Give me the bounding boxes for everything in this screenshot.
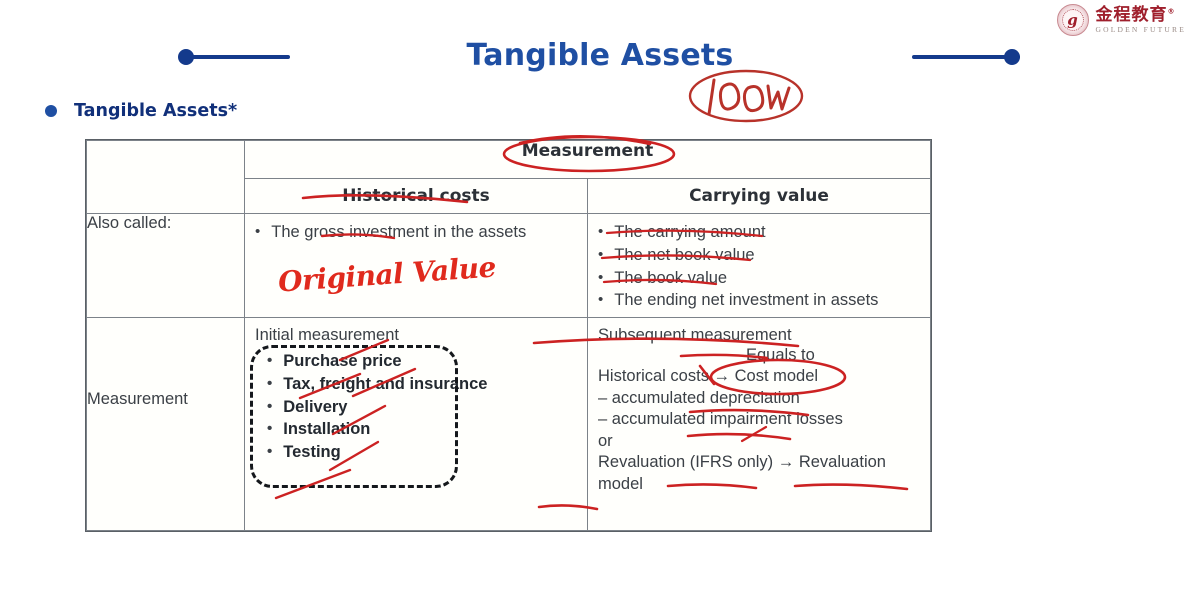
registered-mark-icon: ® [1168, 7, 1176, 15]
list-item: • Tax, freight and insurance [267, 374, 583, 396]
table-corner-cell [87, 141, 245, 214]
table-column-header-carrying-value: Carrying value [588, 179, 931, 214]
bullet-char-icon: • [267, 397, 272, 417]
list-item: • The carrying amount [598, 222, 926, 244]
subsection-title-initial-measurement: Initial measurement [245, 318, 587, 345]
equals-to-label: Equals to [598, 345, 924, 366]
logo-english-name: GOLDEN FUTURE [1096, 26, 1186, 34]
tangible-assets-table: Measurement Historical costs Carrying va… [85, 139, 932, 532]
table-group-header-measurement: Measurement [245, 141, 931, 179]
row-label-also-called: Also called: [87, 214, 245, 318]
list-item-label: Testing [283, 442, 583, 464]
logo-wordmark: 金程教育® GOLDEN FUTURE [1096, 7, 1186, 34]
list-item-label: The book value [614, 268, 926, 290]
bullet-char-icon: • [598, 222, 603, 242]
list-item: • Installation [267, 419, 583, 441]
bullet-list-historical-also-called: • The gross investment in the assets [245, 214, 587, 244]
logo-chinese-name: 金程教育® [1096, 7, 1186, 24]
list-item-label: The carrying amount [614, 222, 926, 244]
cell-measurement-historical: Initial measurement • Purchase price • T… [245, 318, 588, 531]
cell-measurement-carrying: Subsequent measurement Equals to Histori… [588, 318, 931, 531]
table-header-row-group: Measurement [87, 141, 931, 179]
bullet-char-icon: • [267, 351, 272, 371]
annotation-handwriting-100w [709, 80, 789, 114]
title-decoration-line-left [182, 55, 290, 59]
formula-line-cost-model: Historical costs → Cost model [598, 366, 924, 387]
brand-logo: g 金程教育® GOLDEN FUTURE [1057, 4, 1186, 36]
bullet-char-icon: • [267, 442, 272, 462]
bullet-char-icon: • [267, 374, 272, 394]
table-row: Also called: • The gross investment in t… [87, 214, 931, 318]
formula-line-depreciation: – accumulated depreciation [598, 388, 924, 409]
annotation-circle-title-note [690, 71, 802, 121]
bullet-list-initial-measurement: • Purchase price • Tax, freight and insu… [245, 345, 587, 464]
list-item: • The book value [598, 268, 926, 290]
title-decoration-dot-left [178, 49, 194, 65]
list-item: • The net book value [598, 245, 926, 267]
list-item-label: Purchase price [283, 351, 583, 373]
logo-monogram: g [1058, 5, 1088, 35]
logo-emblem-icon: g [1057, 4, 1089, 36]
list-item: • Testing [267, 442, 583, 464]
bullet-dot-icon [45, 105, 57, 117]
list-item-label: The gross investment in the assets [271, 222, 583, 244]
bullet-char-icon: • [267, 419, 272, 439]
list-item-label: Delivery [283, 397, 583, 419]
bullet-char-icon: • [255, 222, 260, 242]
list-item-label: Installation [283, 419, 583, 441]
table-row: Measurement Initial measurement • Purcha… [87, 318, 931, 531]
formula-line-revaluation: Revaluation (IFRS only) → Revaluation mo… [598, 452, 924, 495]
bullet-list-carrying-also-called: • The carrying amount • The net book val… [588, 214, 930, 312]
bullet-char-icon: • [598, 245, 603, 265]
subsection-title-subsequent-measurement: Subsequent measurement [588, 318, 930, 345]
list-item: • Delivery [267, 397, 583, 419]
list-item: • The ending net investment in assets [598, 290, 926, 312]
slide-canvas: g 金程教育® GOLDEN FUTURE Tangible Assets Ta… [0, 0, 1200, 600]
list-item-label: The ending net investment in assets [614, 290, 926, 312]
section-heading-label: Tangible Assets* [74, 101, 237, 121]
table-column-header-historical-costs: Historical costs [245, 179, 588, 214]
bullet-char-icon: • [598, 290, 603, 310]
cell-also-called-carrying: • The carrying amount • The net book val… [588, 214, 931, 318]
section-heading: Tangible Assets* [45, 101, 237, 121]
list-item-label: The net book value [614, 245, 926, 267]
title-decoration-dot-right [1004, 49, 1020, 65]
formula-line-or: or [598, 431, 924, 452]
bullet-char-icon: • [598, 268, 603, 288]
list-item: • Purchase price [267, 351, 583, 373]
formula-line-impairment: – accumulated impairment losses [598, 409, 924, 430]
list-item: • The gross investment in the assets [255, 222, 583, 244]
list-item-label: Tax, freight and insurance [283, 374, 583, 396]
row-label-measurement: Measurement [87, 318, 245, 531]
subsequent-measurement-body: Equals to Historical costs → Cost model … [588, 345, 930, 495]
